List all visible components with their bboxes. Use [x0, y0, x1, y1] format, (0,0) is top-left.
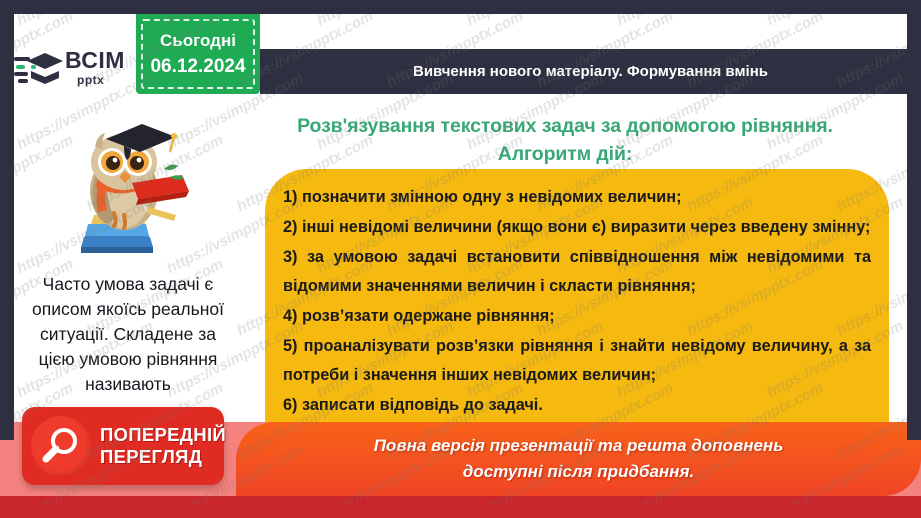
promo-overlay: Повна версія презентації та решта доповн…: [236, 422, 921, 496]
frame-edge-right: [907, 0, 921, 440]
today-date-badge: Сьогодні 06.12.2024: [136, 14, 260, 94]
frame-edge-left: [0, 0, 14, 440]
page-title-line1: Розв'язування текстових задач за допомог…: [240, 112, 890, 140]
vsim-pptx-logo: ВСІМ pptx: [14, 41, 126, 93]
preview-bottom-band: Повна версія презентації та решта доповн…: [0, 422, 921, 518]
page-title-line2: Алгоритм дій:: [240, 140, 890, 168]
magnifier-icon: [31, 416, 91, 476]
preview-badge-line1: ПОПЕРЕДНІЙ: [100, 426, 226, 445]
section-header-bar: Вивчення нового матеріалу. Формування вм…: [260, 49, 907, 94]
today-label: Сьогодні: [160, 31, 236, 51]
presentation-slide: ВСІМ pptx Сьогодні 06.12.2024 Вивчення н…: [0, 0, 921, 518]
preview-badge[interactable]: ПОПЕРЕДНІЙ ПЕРЕГЛЯД: [22, 407, 224, 485]
promo-line2: доступні після придбання.: [463, 459, 694, 485]
graduation-cap-icon: [14, 46, 66, 88]
frame-edge-top: [0, 0, 921, 14]
algorithm-step: 5) проаналізувати розв’язки рівняння і з…: [283, 332, 871, 390]
owl-illustration: [54, 119, 209, 264]
algorithm-step: 6) записати відповідь до задачі.: [283, 391, 871, 420]
algorithm-step: 3) за умовою задачі встановити співвідно…: [283, 243, 871, 301]
left-paragraph: Часто умова задачі є описом якоїсь реаль…: [22, 272, 234, 397]
band-dark-strip: [0, 496, 921, 518]
algorithm-step: 2) інші невідомі величини (якщо вони є) …: [283, 213, 871, 242]
algorithm-step: 1) позначити змінною одну з невідомих ве…: [283, 183, 871, 212]
today-date: 06.12.2024: [150, 56, 245, 78]
badge-dashed-border: [141, 19, 255, 89]
algorithm-step: 4) розв’язати одержане рівняння;: [283, 302, 871, 331]
section-header-text: Вивчення нового матеріалу. Формування вм…: [413, 63, 768, 80]
promo-line1: Повна версія презентації та решта доповн…: [374, 433, 784, 459]
preview-badge-line2: ПЕРЕГЛЯД: [100, 448, 226, 467]
logo-brand: ВСІМ: [65, 49, 125, 72]
page-title: Розв'язування текстових задач за допомог…: [240, 112, 890, 168]
logo-suffix: pptx: [77, 74, 125, 86]
